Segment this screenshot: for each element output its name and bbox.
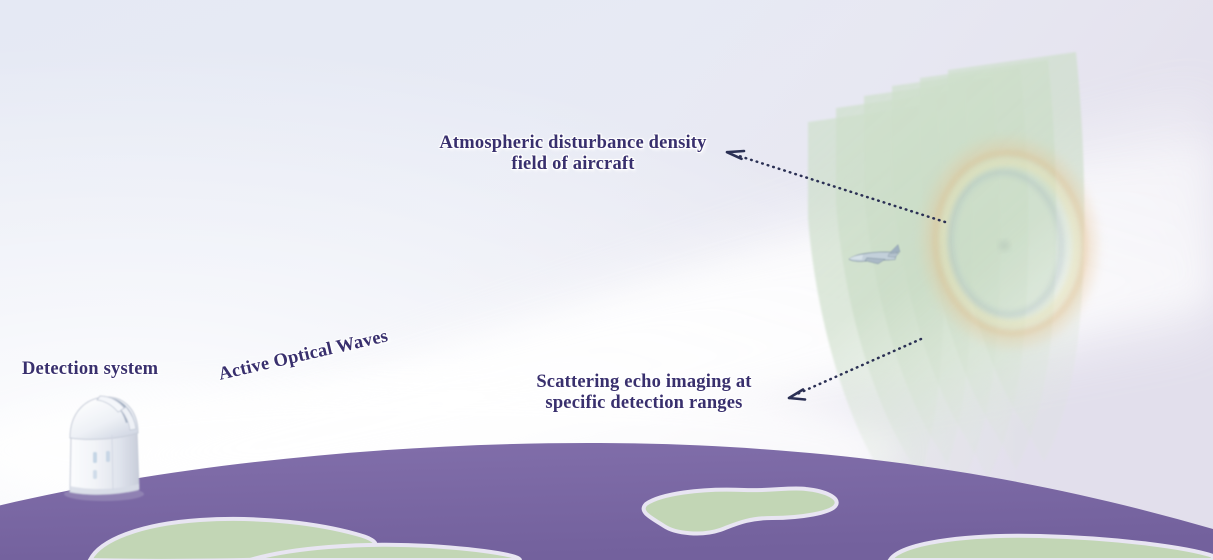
dome-window-3 (93, 470, 97, 479)
figure-canvas: Atmospheric disturbance density field of… (0, 0, 1213, 560)
dome-base (70, 432, 139, 494)
label-density-field: Atmospheric disturbance density field of… (408, 133, 738, 174)
observatory-dome[interactable] (0, 0, 1213, 560)
label-scattering-echo: Scattering echo imaging at specific dete… (498, 372, 790, 413)
label-detection-system: Detection system (22, 359, 202, 380)
dome-window-2 (106, 451, 110, 462)
dome-window-1 (93, 452, 97, 463)
